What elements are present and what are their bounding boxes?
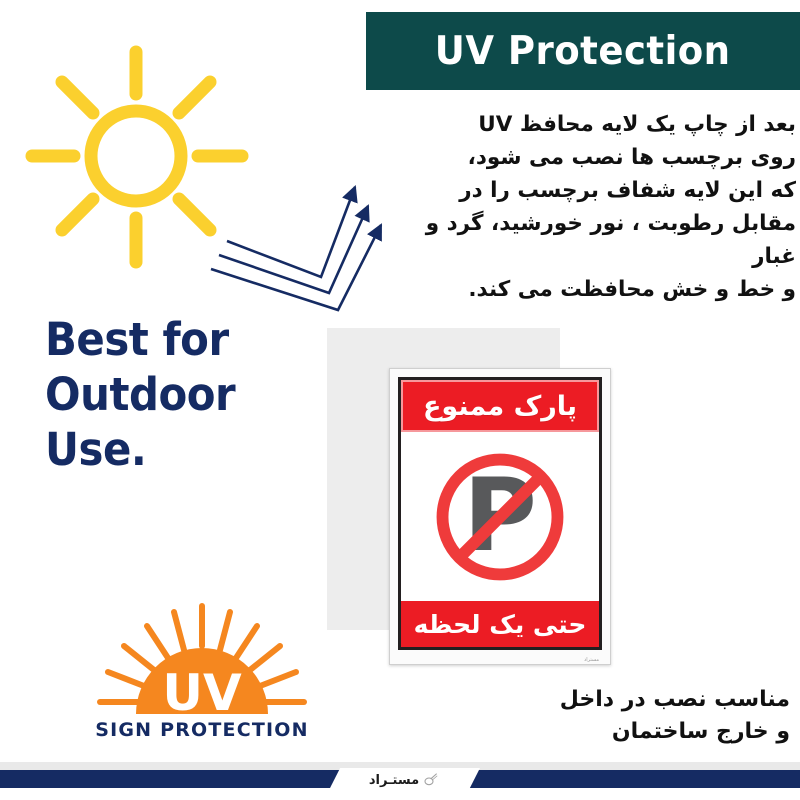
headline-line-1: Best for — [45, 312, 315, 367]
logo-uv-text: UV — [162, 664, 242, 722]
description-line-5: و خط و خش محافظت می کند. — [378, 273, 796, 306]
header-banner: UV Protection — [366, 12, 800, 90]
page-title: UV Protection — [435, 29, 731, 74]
reflected-uv-rays-icon — [205, 165, 385, 315]
uv-sign-protection-logo: UV SIGN PROTECTION — [92, 602, 312, 754]
bottom-note: مناسب نصب در داخل و خارج ساختمان — [370, 684, 790, 748]
sign-bottom-band: حتی یک لحظه — [401, 601, 599, 647]
sign-watermark: مستراد — [584, 657, 599, 663]
headline-line-2: Outdoor — [45, 367, 315, 422]
headline: Best for Outdoor Use. — [45, 312, 315, 477]
footer-base — [0, 788, 800, 800]
brand-mark-icon — [423, 772, 439, 788]
sign-symbol-area: P — [401, 432, 599, 601]
logo-tagline-text: SIGN PROTECTION — [95, 719, 309, 741]
no-parking-sign: پارک ممنوع P حتی یک لحظه مستراد — [389, 368, 611, 665]
bottom-note-line-2: و خارج ساختمان — [370, 716, 790, 748]
footer: مستـراد — [0, 762, 800, 800]
headline-line-3: Use. — [45, 422, 315, 477]
description-line-2: روی برچسب ها نصب می شود، — [378, 141, 796, 174]
description-line-3: که این لایه شفاف برچسب را در — [378, 174, 796, 207]
poster-canvas: UV Protection بعد از چاپ یک لایه محافظ U… — [0, 0, 800, 800]
description-paragraph: بعد از چاپ یک لایه محافظ UV روی برچسب ها… — [378, 108, 796, 306]
description-line-4: مقابل رطوبت ، نور خورشید، گرد و غبار — [378, 207, 796, 273]
bottom-note-line-1: مناسب نصب در داخل — [370, 684, 790, 716]
sign-inner-frame: پارک ممنوع P حتی یک لحظه — [398, 377, 602, 650]
sign-bottom-text: حتی یک لحظه — [414, 612, 587, 637]
footer-brand-text: مستـراد — [369, 773, 419, 788]
sign-top-text: پارک ممنوع — [423, 393, 577, 420]
sign-top-band: پارک ممنوع — [401, 380, 599, 432]
description-line-1: بعد از چاپ یک لایه محافظ UV — [378, 108, 796, 141]
no-parking-icon: P — [427, 444, 573, 590]
